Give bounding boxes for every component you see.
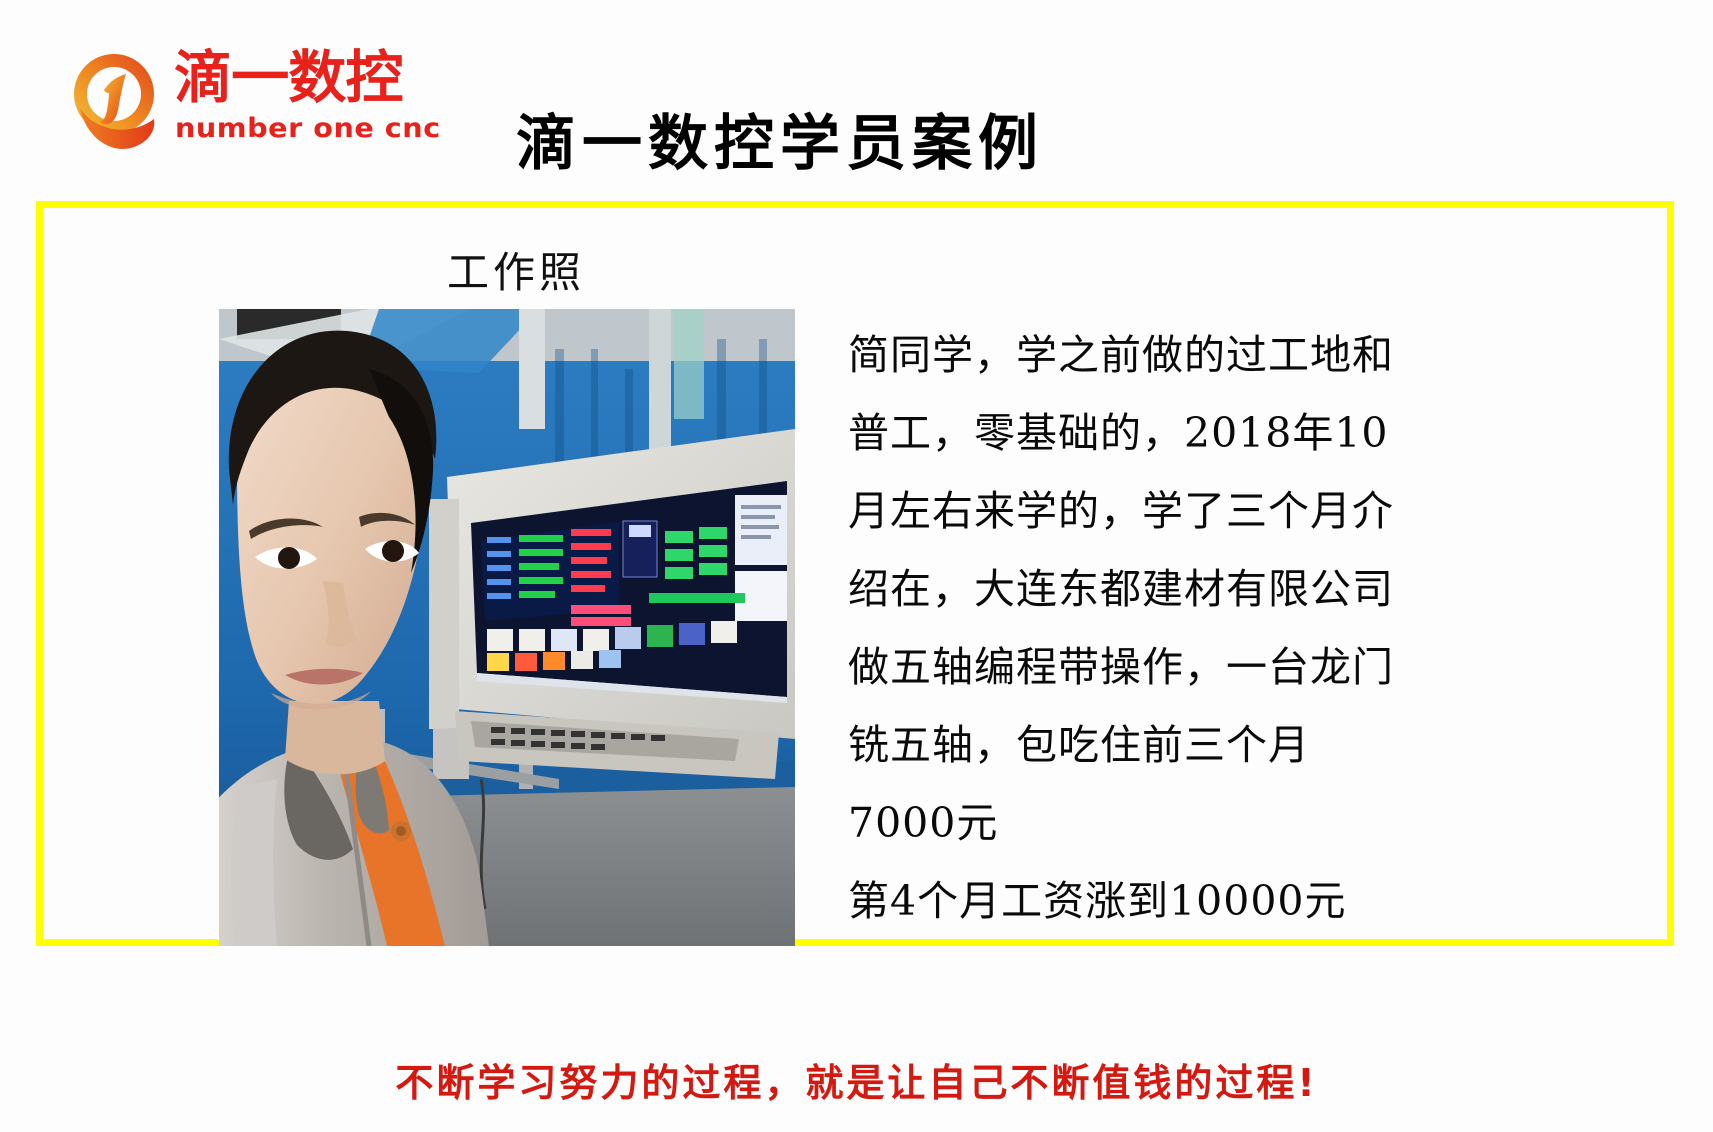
number-one-swoosh-icon (62, 46, 166, 150)
student-work-photo (219, 309, 795, 946)
testimonial-text: 简同学，学之前做的过工地和 普工，零基础的，2018年10 月左右来学的，学了三… (848, 316, 1528, 940)
testimonial-line: 7000元 (848, 784, 1528, 862)
footer-slogan: 不断学习努力的过程，就是让自己不断值钱的过程! (0, 1059, 1713, 1107)
testimonial-line: 月左右来学的，学了三个月介 (848, 472, 1528, 550)
testimonial-line: 普工，零基础的，2018年10 (848, 394, 1528, 472)
photo-caption: 工作照 (447, 247, 585, 299)
testimonial-line: 第4个月工资涨到10000元 (848, 862, 1528, 940)
testimonial-line: 铣五轴，包吃住前三个月 (848, 706, 1528, 784)
logo-wordmark: 滴一数控 number one cnc (174, 48, 374, 150)
testimonial-line: 绍在，大连东都建材有限公司 (848, 550, 1528, 628)
testimonial-line: 做五轴编程带操作，一台龙门 (848, 628, 1528, 706)
logo-english-name: number one cnc (175, 114, 441, 144)
brand-logo: 滴一数控 number one cnc (62, 44, 372, 152)
page-title: 滴一数控学员案例 (470, 108, 1090, 180)
logo-chinese-name: 滴一数控 (174, 48, 402, 108)
testimonial-line: 简同学，学之前做的过工地和 (848, 316, 1528, 394)
